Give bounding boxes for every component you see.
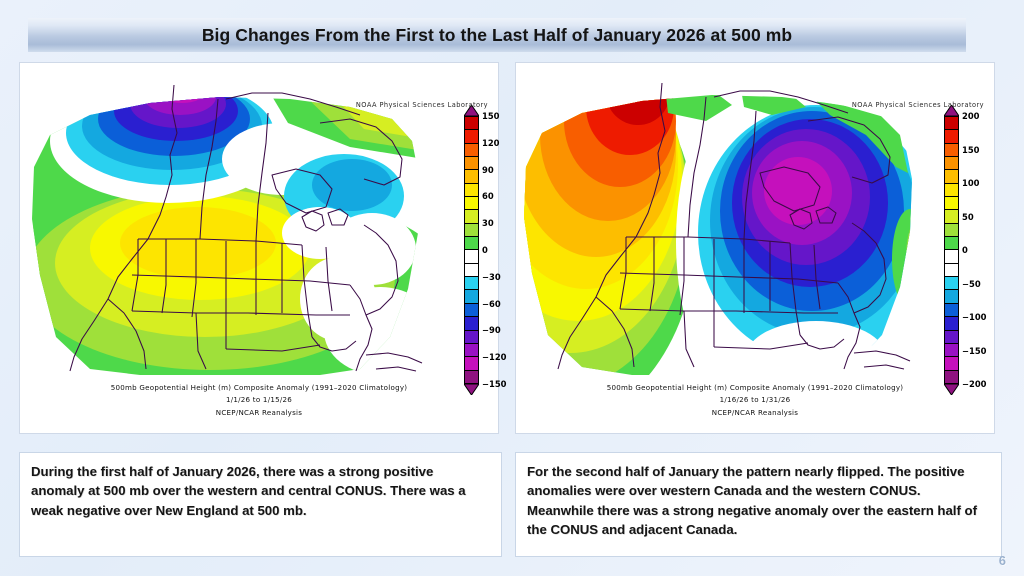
colorbar-band xyxy=(945,157,958,170)
anomaly-map-first-half xyxy=(20,63,448,375)
colorbar-band xyxy=(465,250,478,263)
colorbar-tick: 60 xyxy=(482,191,494,201)
summary-text-first-half: During the first half of January 2026, t… xyxy=(31,462,490,520)
colorbar-tick: 0 xyxy=(962,245,968,255)
colorbar-band xyxy=(945,237,958,250)
summary-textbox-second-half: For the second half of January the patte… xyxy=(515,452,1002,557)
colorbar-band xyxy=(465,304,478,317)
colorbar-band xyxy=(465,170,478,183)
colorbar-tick: 100 xyxy=(962,178,979,188)
colorbar-band xyxy=(945,250,958,263)
colorbar-band xyxy=(465,117,478,130)
colorbar-band xyxy=(465,317,478,330)
summary-text-second-half: For the second half of January the patte… xyxy=(527,462,990,540)
colorbar-band xyxy=(465,210,478,223)
colorbar-tick: 0 xyxy=(482,245,488,255)
map-image-first-half xyxy=(20,63,448,375)
map-image-second-half xyxy=(516,63,928,375)
colorbar-first-half: 1501209060300−30−60−90−120−150 xyxy=(456,105,512,395)
colorbar-band xyxy=(945,344,958,357)
colorbar-band xyxy=(945,317,958,330)
colorbar-tick-labels: 200150100500−50−100−150−200 xyxy=(962,116,992,384)
map-panel-second-half: NOAA Physical Sciences Laboratory 200150… xyxy=(515,62,995,434)
colorbar-tick: −100 xyxy=(962,312,987,322)
colorbar-tick: −150 xyxy=(962,346,987,356)
colorbar-tick: −90 xyxy=(482,325,501,335)
caption-line-3: NCEP/NCAR Reanalysis xyxy=(20,407,498,419)
colorbar-tick: 30 xyxy=(482,218,494,228)
colorbar-band xyxy=(945,184,958,197)
colorbar-band xyxy=(465,157,478,170)
colorbar-tick: 200 xyxy=(962,111,979,121)
colorbar-band xyxy=(465,237,478,250)
colorbar-tick: −50 xyxy=(962,279,981,289)
colorbar-band xyxy=(945,224,958,237)
caption-line-3: NCEP/NCAR Reanalysis xyxy=(516,407,994,419)
colorbar-band xyxy=(465,277,478,290)
caption-line-1: 500mb Geopotential Height (m) Composite … xyxy=(111,383,408,392)
colorbar-band xyxy=(945,290,958,303)
page-title: Big Changes From the First to the Last H… xyxy=(202,25,792,46)
colorbar-band xyxy=(465,197,478,210)
caption-line-2: 1/1/26 to 1/15/26 xyxy=(20,394,498,406)
colorbar-band xyxy=(945,304,958,317)
colorbar-tick: −120 xyxy=(482,352,507,362)
colorbar-band xyxy=(945,357,958,370)
caption-line-2: 1/16/26 to 1/31/26 xyxy=(516,394,994,406)
colorbar-band xyxy=(945,331,958,344)
colorbar-band xyxy=(945,170,958,183)
colorbar-band xyxy=(945,210,958,223)
colorbar-band xyxy=(465,130,478,143)
colorbar-tick: −60 xyxy=(482,299,501,309)
colorbar-tick: 90 xyxy=(482,165,494,175)
colorbar-band xyxy=(465,184,478,197)
colorbar-band xyxy=(945,197,958,210)
colorbar-band xyxy=(465,344,478,357)
colorbar-tick: 50 xyxy=(962,212,974,222)
colorbar-band xyxy=(945,130,958,143)
colorbar-tick: 150 xyxy=(482,111,499,121)
colorbar-tick-labels: 1501209060300−30−60−90−120−150 xyxy=(482,116,512,384)
colorbar-band xyxy=(945,264,958,277)
colorbar-tick: −30 xyxy=(482,272,501,282)
colorbar-band xyxy=(465,357,478,370)
map-caption-first-half: 500mb Geopotential Height (m) Composite … xyxy=(20,382,498,419)
caption-line-1: 500mb Geopotential Height (m) Composite … xyxy=(607,383,904,392)
anomaly-map-second-half xyxy=(516,63,928,375)
colorbar-band xyxy=(465,290,478,303)
colorbar-cells xyxy=(464,116,479,384)
map-caption-second-half: 500mb Geopotential Height (m) Composite … xyxy=(516,382,994,419)
summary-textbox-first-half: During the first half of January 2026, t… xyxy=(19,452,502,557)
colorbar-band xyxy=(465,144,478,157)
noaa-watermark: NOAA Physical Sciences Laboratory xyxy=(852,101,984,109)
colorbar-band xyxy=(945,277,958,290)
map-panel-first-half: NOAA Physical Sciences Laboratory 150120… xyxy=(19,62,499,434)
colorbar-second-half: 200150100500−50−100−150−200 xyxy=(936,105,992,395)
colorbar-band xyxy=(465,264,478,277)
slide-title-bar: Big Changes From the First to the Last H… xyxy=(28,18,966,52)
colorbar-band xyxy=(945,144,958,157)
colorbar-tick: 120 xyxy=(482,138,499,148)
colorbar-band xyxy=(465,224,478,237)
colorbar-tick: 150 xyxy=(962,145,979,155)
colorbar-band xyxy=(945,117,958,130)
noaa-watermark: NOAA Physical Sciences Laboratory xyxy=(356,101,488,109)
slide-number: 6 xyxy=(999,553,1006,568)
colorbar-cells xyxy=(944,116,959,384)
colorbar-band xyxy=(465,331,478,344)
